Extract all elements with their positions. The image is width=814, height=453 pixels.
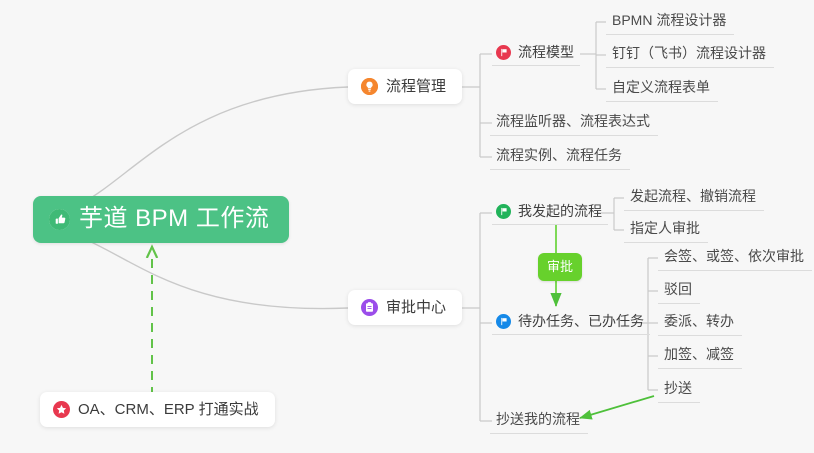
root-node[interactable]: 芋道 BPM 工作流: [33, 196, 289, 243]
branch-node-todo-done-tasks[interactable]: 待办任务、已办任务: [492, 312, 650, 335]
flag-icon: [496, 204, 511, 219]
leaf-node-cc-to-me[interactable]: 抄送我的流程: [490, 410, 588, 434]
branch-node-label: 待办任务、已办任务: [518, 312, 644, 330]
leaf-node-start-cancel-process[interactable]: 发起流程、撤销流程: [624, 187, 764, 211]
branch-node-label: 流程模型: [518, 43, 574, 61]
leaf-node-custom-form[interactable]: 自定义流程表单: [606, 78, 718, 102]
leaf-node-label: 流程监听器、流程表达式: [496, 113, 650, 129]
arrow-cc-flow: [580, 396, 654, 418]
leaf-node-label: 驳回: [664, 281, 692, 297]
leaf-node-label: 自定义流程表单: [612, 79, 710, 95]
leaf-node-countersign[interactable]: 会签、或签、依次审批: [658, 247, 812, 271]
leaf-node-delegate-transfer[interactable]: 委派、转办: [658, 312, 742, 336]
leaf-node-label: 抄送我的流程: [496, 411, 580, 427]
leaf-node-add-remove-sign[interactable]: 加签、减签: [658, 345, 742, 369]
leaf-node-label: 钉钉（飞书）流程设计器: [612, 45, 766, 61]
arrow-label-approval[interactable]: 审批: [538, 253, 582, 281]
leaf-node-label: 指定人审批: [630, 220, 700, 236]
clipboard-icon: [361, 299, 378, 316]
branch-node-label: 审批中心: [386, 300, 446, 315]
leaf-node-assignee-approval[interactable]: 指定人审批: [624, 219, 708, 243]
leaf-node-label: 委派、转办: [664, 313, 734, 329]
leaf-node-label: 发起流程、撤销流程: [630, 188, 756, 204]
leaf-node-process-instance[interactable]: 流程实例、流程任务: [490, 146, 630, 170]
flag-icon: [496, 314, 511, 329]
branch-node-approval-center[interactable]: 审批中心: [348, 290, 462, 325]
leaf-node-label: 抄送: [664, 380, 692, 396]
branch-node-label: 我发起的流程: [518, 202, 602, 220]
leaf-node-label: 流程实例、流程任务: [496, 147, 622, 163]
leaf-node-bpmn-designer[interactable]: BPMN 流程设计器: [606, 11, 734, 35]
star-icon: [53, 401, 70, 418]
root-node-label: 芋道 BPM 工作流: [79, 207, 269, 231]
leaf-node-dingtalk-designer[interactable]: 钉钉（飞书）流程设计器: [606, 44, 774, 68]
branch-node-process-model[interactable]: 流程模型: [492, 43, 580, 66]
leaf-node-label: 加签、减签: [664, 346, 734, 362]
thumbs-up-icon: [49, 209, 70, 230]
leaf-node-cc[interactable]: 抄送: [658, 379, 700, 403]
leaf-node-label: BPMN 流程设计器: [612, 12, 726, 28]
lightbulb-icon: [361, 78, 378, 95]
flag-icon: [496, 45, 511, 60]
branch-node-process-management[interactable]: 流程管理: [348, 69, 462, 104]
branch-node-my-initiated[interactable]: 我发起的流程: [492, 202, 608, 225]
leaf-node-reject[interactable]: 驳回: [658, 280, 700, 304]
leaf-node-process-listener[interactable]: 流程监听器、流程表达式: [490, 112, 658, 136]
arrow-label-text: 审批: [547, 259, 573, 274]
branch-node-label: 流程管理: [386, 79, 446, 94]
leaf-node-label: 会签、或签、依次审批: [664, 248, 804, 264]
floating-node-label: OA、CRM、ERP 打通实战: [78, 402, 259, 417]
mindmap-canvas: 芋道 BPM 工作流 流程管理 流程模型 BPMN 流程设计器 钉钉（飞书）流程: [0, 0, 814, 453]
floating-node-integration-note[interactable]: OA、CRM、ERP 打通实战: [40, 392, 275, 427]
